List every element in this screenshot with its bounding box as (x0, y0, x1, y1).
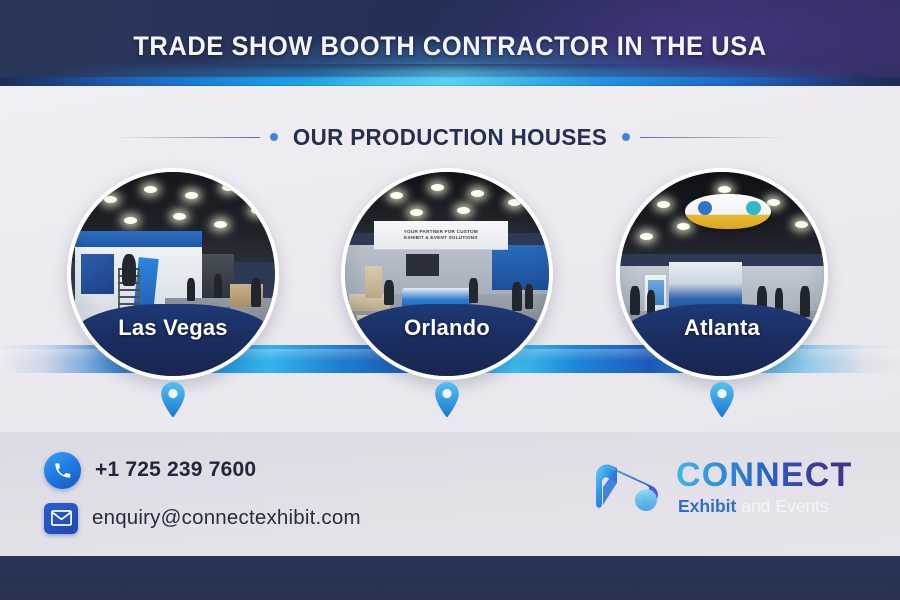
city-photo: Las Vegas (71, 172, 275, 376)
contact-block: +1 725 239 7600 enquiry@connectexhibit.c… (44, 448, 504, 540)
contact-phone-row[interactable]: +1 725 239 7600 (44, 448, 504, 492)
map-pin-icon (433, 381, 461, 419)
connect-ribbon-logo-icon (590, 456, 664, 518)
map-pin-icon (159, 381, 187, 419)
city-card-orlando[interactable]: YOUR PARTNER FOR CUSTOM EXHIBIT & EVENT … (341, 168, 553, 380)
city-photo-disc: Las Vegas (67, 168, 279, 380)
map-pin-icon (708, 381, 736, 419)
city-photo-disc: YOUR PARTNER FOR CUSTOM EXHIBIT & EVENT … (341, 168, 553, 380)
production-houses-group: Las Vegas (0, 0, 900, 432)
logo-wordmark: CONNECT (676, 456, 853, 495)
city-card-las-vegas[interactable]: Las Vegas (67, 168, 279, 380)
city-label-cap: Las Vegas (71, 304, 275, 376)
city-card-atlanta[interactable]: Atlanta (616, 168, 828, 380)
envelope-icon (44, 503, 78, 534)
logo-tagline-bold: Exhibit (678, 496, 736, 516)
company-logo[interactable]: CONNECT Exhibit and Events (590, 452, 870, 530)
phone-icon (44, 452, 81, 489)
city-name: Atlanta (620, 315, 824, 341)
phone-number: +1 725 239 7600 (95, 458, 256, 482)
logo-tagline: Exhibit and Events (678, 496, 829, 517)
email-address: enquiry@connectexhibit.com (92, 506, 361, 530)
city-photo: YOUR PARTNER FOR CUSTOM EXHIBIT & EVENT … (345, 172, 549, 376)
city-name: Orlando (345, 315, 549, 341)
city-name: Las Vegas (71, 315, 275, 341)
contact-email-row[interactable]: enquiry@connectexhibit.com (44, 496, 504, 540)
footer-bar (0, 556, 900, 600)
logo-tagline-rest: and Events (736, 496, 828, 516)
poster-canvas: TRADE SHOW BOOTH CONTRACTOR IN THE USA O… (0, 0, 900, 600)
city-photo-disc: Atlanta (616, 168, 828, 380)
city-photo: Atlanta (620, 172, 824, 376)
city-label-cap: Orlando (345, 304, 549, 376)
city-label-cap: Atlanta (620, 304, 824, 376)
